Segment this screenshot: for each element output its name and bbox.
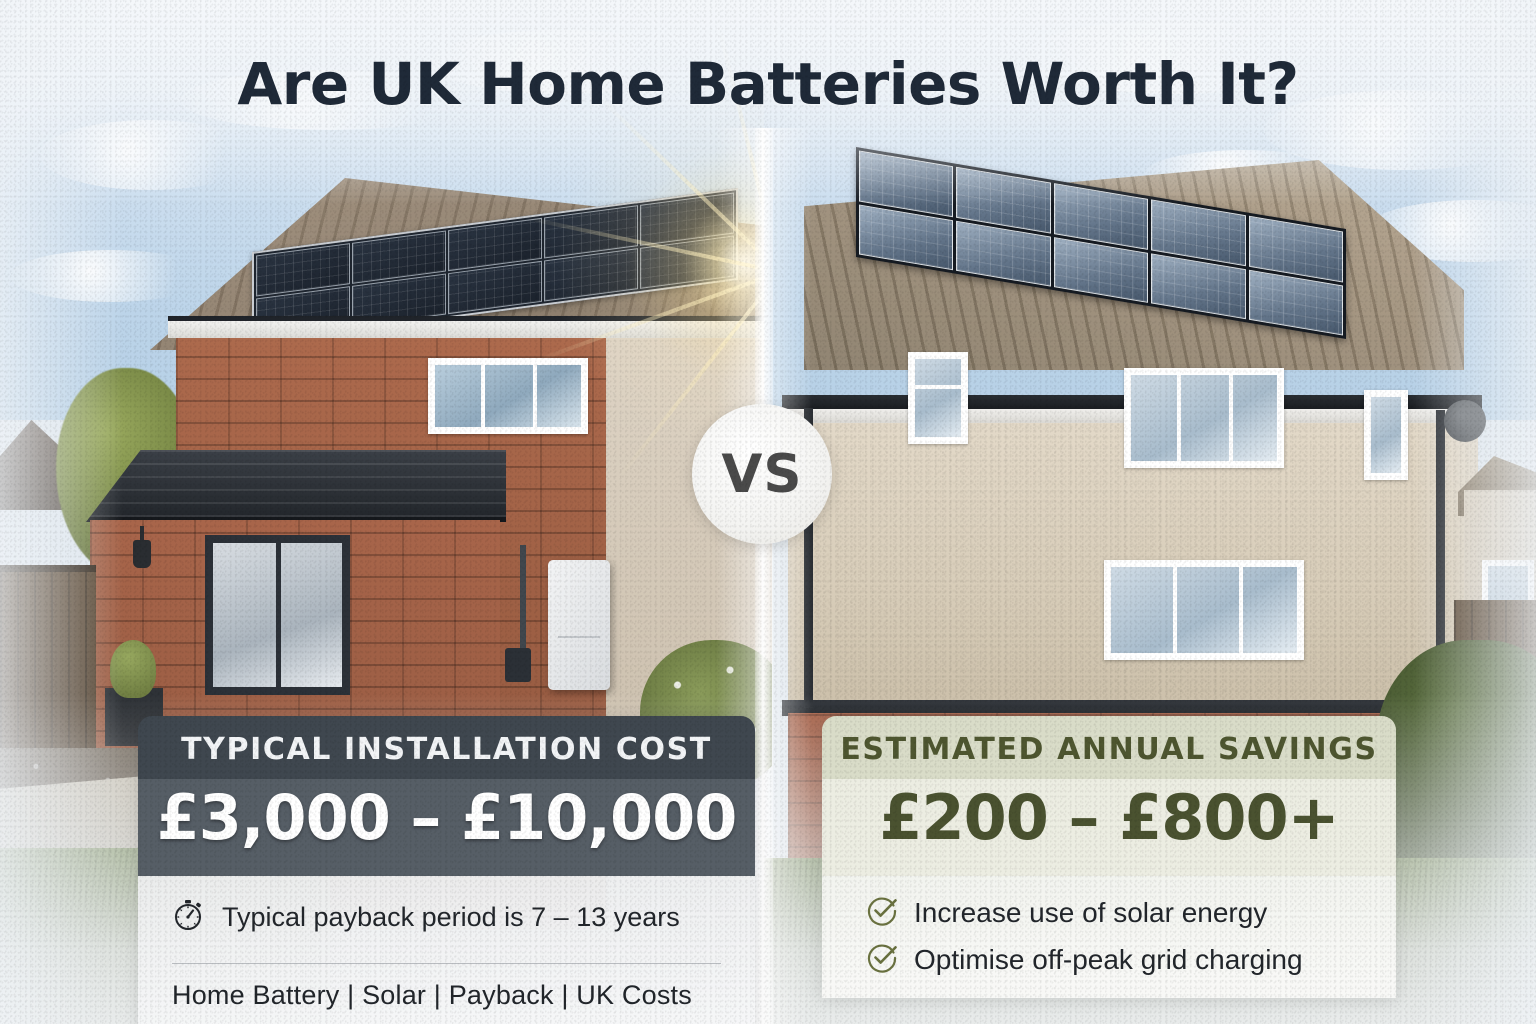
- cloud: [40, 120, 260, 190]
- stopwatch-icon: [172, 898, 206, 937]
- wall-lamp-icon: [133, 540, 151, 568]
- left-fascia: [168, 316, 772, 338]
- right-window-lower: [1104, 560, 1304, 660]
- cost-card-heading: TYPICAL INSTALLATION COST: [138, 716, 755, 779]
- topiary-shrub: [110, 640, 156, 698]
- vs-badge-label: VS: [721, 444, 802, 505]
- savings-card-value: £200 – £800+: [822, 779, 1396, 876]
- cost-card-value: £3,000 – £10,000: [138, 779, 755, 876]
- savings-card-heading: ESTIMATED ANNUAL SAVINGS: [822, 716, 1396, 779]
- check-circle-icon: [866, 941, 898, 978]
- annual-savings-card: ESTIMATED ANNUAL SAVINGS £200 – £800+ In…: [822, 716, 1396, 998]
- left-downpipe: [520, 545, 526, 655]
- installation-cost-card: TYPICAL INSTALLATION COST £3,000 – £10,0…: [138, 716, 755, 1024]
- satellite-dish-icon: [1444, 400, 1486, 442]
- left-porch-roof: [86, 450, 506, 522]
- savings-card-body: Increase use of solar energy Optimise of…: [822, 876, 1396, 998]
- left-french-doors: [205, 535, 350, 695]
- right-window-small: [908, 352, 968, 444]
- vs-badge: VS: [692, 404, 832, 544]
- home-battery-unit: [548, 560, 610, 690]
- payback-note-text: Typical payback period is 7 – 13 years: [222, 902, 680, 933]
- benefit-row: Optimise off-peak grid charging: [866, 941, 1362, 978]
- infographic-canvas: Are UK Home Batteries Worth It? VS TYPIC…: [0, 0, 1536, 1024]
- right-hedge: [1376, 640, 1536, 870]
- benefit-text: Increase use of solar energy: [914, 897, 1267, 929]
- cost-card-body: Typical payback period is 7 – 13 years H…: [138, 876, 755, 1024]
- page-title: Are UK Home Batteries Worth It?: [0, 50, 1536, 118]
- right-window-main: [1124, 368, 1284, 468]
- benefit-text: Optimise off-peak grid charging: [914, 944, 1303, 976]
- inverter-box: [505, 648, 531, 682]
- payback-note-row: Typical payback period is 7 – 13 years: [172, 898, 721, 937]
- left-upper-window: [428, 358, 588, 434]
- benefit-row: Increase use of solar energy: [866, 894, 1362, 931]
- right-window-side: [1364, 390, 1408, 480]
- check-circle-icon: [866, 894, 898, 931]
- cloud: [10, 250, 210, 302]
- cost-card-tags: Home Battery | Solar | Payback | UK Cost…: [172, 980, 721, 1011]
- cost-card-divider: [172, 963, 721, 964]
